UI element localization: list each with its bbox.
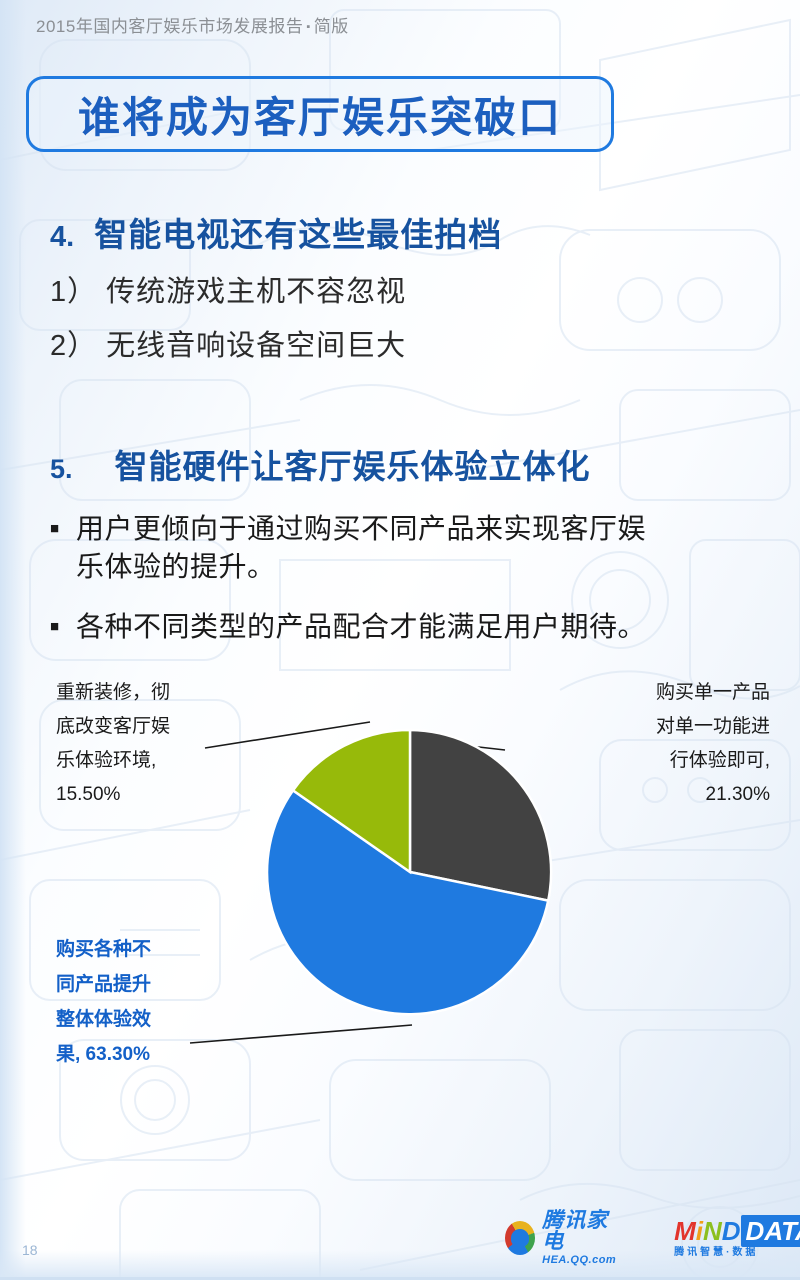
pie-label-dark-line-3: 行体验即可, — [656, 744, 770, 778]
header-title: 2015年国内客厅娱乐市场发展报告 — [36, 17, 303, 36]
pie-label-dark-value: 21.30% — [656, 778, 770, 812]
logo-minddata-data: DATA — [741, 1215, 800, 1247]
pie-label-blue-line-2: 同产品提升 — [56, 967, 151, 1002]
section-5-bullet-1-line-2: 乐体验的提升。 — [76, 551, 276, 582]
section-5-bullet-2-text: 各种不同类型的产品配合才能满足用户期待。 — [76, 608, 646, 646]
slide-title-box: 谁将成为客厅娱乐突破口 — [26, 76, 614, 152]
tencent-penguin-icon — [505, 1221, 535, 1255]
slide-canvas: 2015年国内客厅娱乐市场发展报告▪简版 谁将成为客厅娱乐突破口 4. 智能电视… — [0, 0, 800, 1280]
pie-label-dark: 购买单一产品 对单一功能进 行体验即可, 21.30% — [656, 676, 770, 812]
pie-label-blue: 购买各种不 同产品提升 整体体验效 果, 63.30% — [56, 932, 151, 1072]
section-5-bullet-1: ■ 用户更倾向于通过购买不同产品来实现客厅娱 乐体验的提升。 — [50, 510, 760, 586]
section-4-number: 4. — [50, 221, 74, 254]
pie-label-green: 重新装修，彻 底改变客厅娱 乐体验环境, 15.50% — [56, 676, 170, 812]
section-5-heading: 5. 智能硬件让客厅娱乐体验立体化 — [50, 440, 760, 488]
page-number: 18 — [22, 1242, 38, 1258]
slide-header: 2015年国内客厅娱乐市场发展报告▪简版 — [36, 12, 349, 37]
section-5: 5. 智能硬件让客厅娱乐体验立体化 ■ 用户更倾向于通过购买不同产品来实现客厅娱… — [50, 440, 760, 646]
section-5-bullet-2: ■ 各种不同类型的产品配合才能满足用户期待。 — [50, 608, 760, 646]
leader-line-blue — [190, 1025, 412, 1043]
section-4: 4. 智能电视还有这些最佳拍档 1） 传统游戏主机不容忽视 2） 无线音响设备空… — [50, 208, 750, 364]
pie-label-green-value: 15.50% — [56, 778, 170, 812]
section-4-item-2: 2） 无线音响设备空间巨大 — [50, 322, 750, 364]
section-5-bullet-1-text: 用户更倾向于通过购买不同产品来实现客厅娱 乐体验的提升。 — [76, 510, 646, 586]
pie-label-blue-value: 果, 63.30% — [56, 1037, 151, 1072]
pie-slices — [267, 730, 551, 1014]
logo-minddata-letter-d: D — [722, 1216, 741, 1246]
bullet-square-icon: ■ — [50, 608, 76, 646]
page-title: 谁将成为客厅娱乐突破口 — [78, 84, 562, 145]
pie-label-blue-line-3: 整体体验效 — [56, 1002, 151, 1037]
footer-logos: 腾讯家电 HEA.QQ.com MiNDDATA 腾讯智慧·数据 — [505, 1210, 800, 1266]
header-suffix: 简版 — [314, 17, 349, 36]
logo-minddata-letter-n: N — [703, 1216, 722, 1246]
pie-label-green-line-1: 重新装修，彻 — [56, 676, 170, 710]
section-4-item-1: 1） 传统游戏主机不容忽视 — [50, 268, 750, 310]
logo-tencent-url: HEA.QQ.com — [542, 1255, 620, 1266]
pie-label-green-line-3: 乐体验环境, — [56, 744, 170, 778]
logo-tencent-cn: 腾讯家电 — [542, 1210, 620, 1252]
pie-label-blue-line-1: 购买各种不 — [56, 932, 151, 967]
section-4-title: 智能电视还有这些最佳拍档 — [94, 208, 502, 256]
logo-minddata-letter-i: i — [696, 1216, 703, 1246]
pie-slice-dark — [410, 730, 551, 901]
header-separator-icon: ▪ — [306, 21, 310, 33]
section-5-number: 5. — [50, 454, 73, 485]
pie-label-dark-line-2: 对单一功能进 — [656, 710, 770, 744]
logo-minddata-wordmark: MiNDDATA — [674, 1218, 800, 1244]
pie-label-dark-line-1: 购买单一产品 — [656, 676, 770, 710]
section-4-heading: 4. 智能电视还有这些最佳拍档 — [50, 208, 750, 256]
pie-label-green-line-2: 底改变客厅娱 — [56, 710, 170, 744]
logo-tencent-hea[interactable]: 腾讯家电 HEA.QQ.com — [505, 1210, 620, 1266]
logo-minddata-letter-m: M — [674, 1216, 696, 1246]
section-5-title: 智能硬件让客厅娱乐体验立体化 — [115, 440, 591, 488]
logo-minddata-subtitle: 腾讯智慧·数据 — [674, 1248, 800, 1258]
bullet-square-icon: ■ — [50, 510, 76, 586]
logo-minddata[interactable]: MiNDDATA 腾讯智慧·数据 — [674, 1218, 800, 1258]
section-5-bullet-1-line-1: 用户更倾向于通过购买不同产品来实现客厅娱 — [76, 513, 646, 544]
